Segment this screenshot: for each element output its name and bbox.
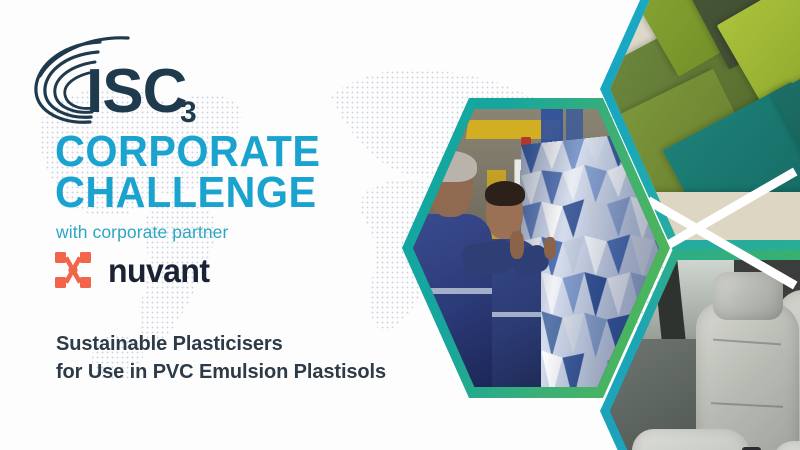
headline-line-2: CHALLENGE xyxy=(55,173,320,214)
page-title: CORPORATE CHALLENGE xyxy=(55,132,337,214)
isc3-wordmark: ISC xyxy=(86,57,187,126)
partner-label: with corporate partner xyxy=(56,222,228,243)
photo-factory-workers xyxy=(413,109,659,387)
nuvant-mark-icon xyxy=(55,252,95,290)
nuvant-wordmark: nuvant xyxy=(108,252,209,290)
subtitle-line-1: Sustainable Plasticisers xyxy=(56,330,386,358)
car-seat-cushion-left xyxy=(632,429,751,450)
car-headrest xyxy=(713,272,783,320)
promo-banner: ISC 3 CORPORATE CHALLENGE with corporate… xyxy=(0,0,800,450)
car-seat-back-center xyxy=(696,302,799,450)
isc3-subscript: 3 xyxy=(180,96,197,129)
isc3-logo: ISC 3 xyxy=(28,30,218,135)
isc3-logo-svg: ISC 3 xyxy=(28,30,218,135)
headline-line-1: CORPORATE xyxy=(55,132,320,173)
subtitle-line-2: for Use in PVC Emulsion Plastisols xyxy=(56,358,386,386)
left-content-column: ISC 3 CORPORATE CHALLENGE with corporate… xyxy=(0,0,430,450)
challenge-subtitle: Sustainable Plasticisers for Use in PVC … xyxy=(56,330,386,387)
nuvant-logo: nuvant xyxy=(55,252,213,290)
